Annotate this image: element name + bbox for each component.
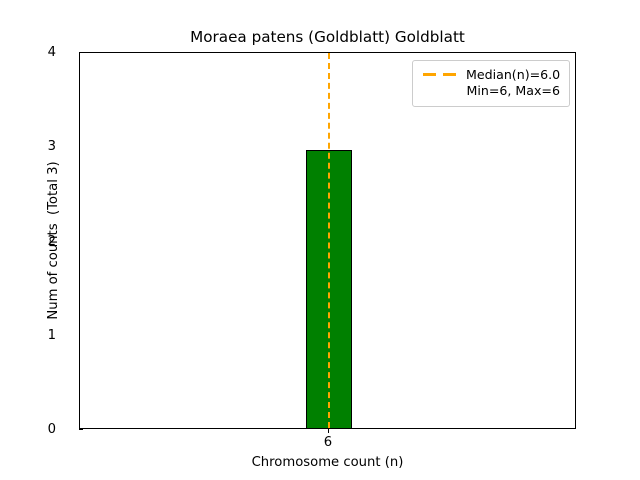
legend-entry-median: Median(n)=6.0 — [422, 67, 560, 83]
y-axis-label: Num of counts (Total 3) — [43, 52, 65, 429]
figure-canvas: Moraea patens (Goldblatt) Goldblatt 4 3 … — [0, 0, 640, 480]
x-tick-mark-6 — [328, 429, 329, 433]
legend-label-minmax: Min=6, Max=6 — [422, 83, 560, 99]
chart-title: Moraea patens (Goldblatt) Goldblatt — [79, 28, 576, 46]
y-tick-mark-0 — [79, 429, 83, 430]
legend-box: Median(n)=6.0 Min=6, Max=6 — [412, 60, 570, 107]
plot-area — [79, 52, 576, 429]
median-line — [328, 53, 330, 428]
legend-label-median: Median(n)=6.0 — [466, 67, 560, 83]
dashed-line-icon — [422, 67, 458, 82]
x-axis-label: Chromosome count (n) — [79, 455, 576, 471]
x-tick-label-6: 6 — [324, 435, 332, 450]
